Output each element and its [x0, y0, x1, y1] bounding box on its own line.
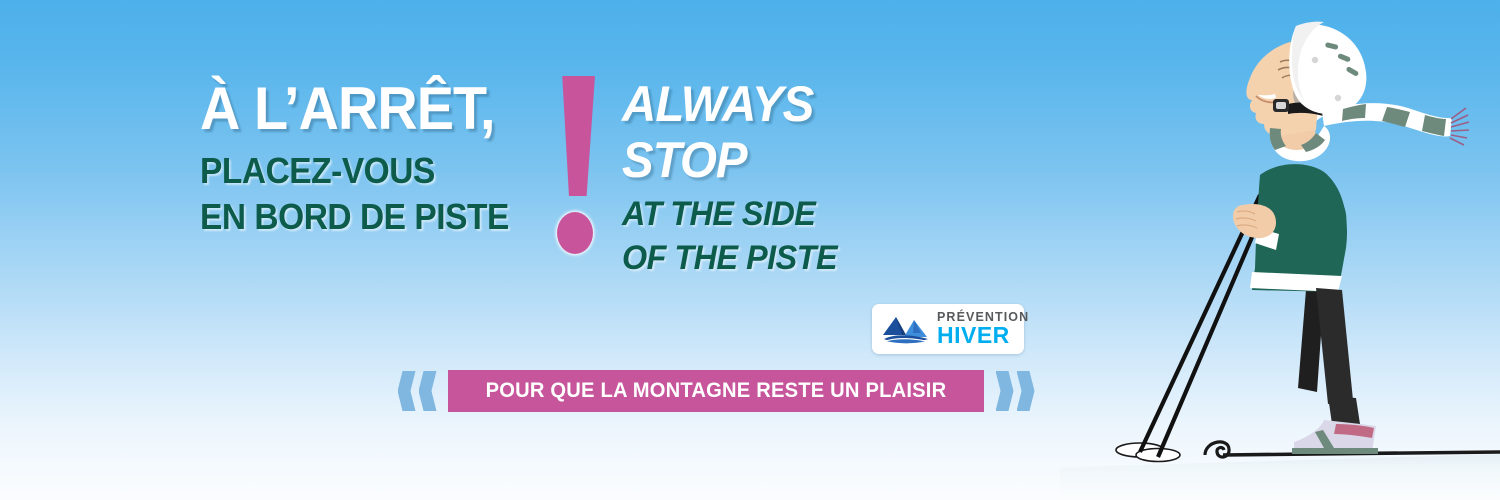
french-headline-line-2: PLACEZ-VOUS: [200, 148, 516, 194]
ski-boot: [1292, 420, 1378, 454]
logo-wordmark: PRÉVENTION HIVER: [937, 311, 1029, 348]
english-headline-line-3: AT THE SIDE: [622, 192, 936, 236]
slogan-text: POUR QUE LA MONTAGNE RESTE UN PLAISIR: [486, 379, 947, 403]
english-headline-line-2: STOP: [622, 132, 936, 188]
exclamation-bar: [553, 76, 595, 196]
front-leg: [1316, 288, 1353, 404]
helmet: [1289, 22, 1366, 114]
french-headline-line-1: À L’ARRÊT,: [200, 78, 516, 140]
french-headline-line-3: EN BORD DE PISTE: [200, 194, 516, 240]
chevron-right-2: [1017, 371, 1035, 411]
chevron-right-icon: [994, 371, 1036, 411]
hands: [1233, 204, 1276, 238]
mountain-icon: [880, 311, 932, 347]
ski-safety-banner: À L’ARRÊT, PLACEZ-VOUS EN BORD DE PISTE …: [0, 0, 1500, 500]
logo-hiver-text: HIVER: [937, 324, 1029, 347]
chevron-left-icon: [396, 371, 438, 411]
slogan-strap-row: POUR QUE LA MONTAGNE RESTE UN PLAISIR: [396, 368, 1036, 414]
exclamation-mark-icon: [545, 76, 615, 276]
front-shin: [1328, 396, 1360, 424]
french-headline: À L’ARRÊT, PLACEZ-VOUS EN BORD DE PISTE: [200, 78, 540, 240]
english-headline-line-1: ALWAYS: [622, 76, 936, 132]
chevron-left-1: [398, 371, 416, 411]
prevention-hiver-logo[interactable]: PRÉVENTION HIVER: [872, 304, 1024, 354]
exclamation-dot: [557, 212, 593, 254]
scarf-fringe: [1450, 108, 1469, 145]
english-headline: ALWAYS STOP AT THE SIDE OF THE PISTE: [622, 76, 952, 280]
chevron-right-1: [996, 371, 1014, 411]
slogan-strap: POUR QUE LA MONTAGNE RESTE UN PLAISIR: [448, 370, 984, 412]
skier-illustration: [1110, 0, 1500, 500]
chevron-left-2: [419, 371, 437, 411]
english-headline-line-4: OF THE PISTE: [622, 236, 936, 280]
